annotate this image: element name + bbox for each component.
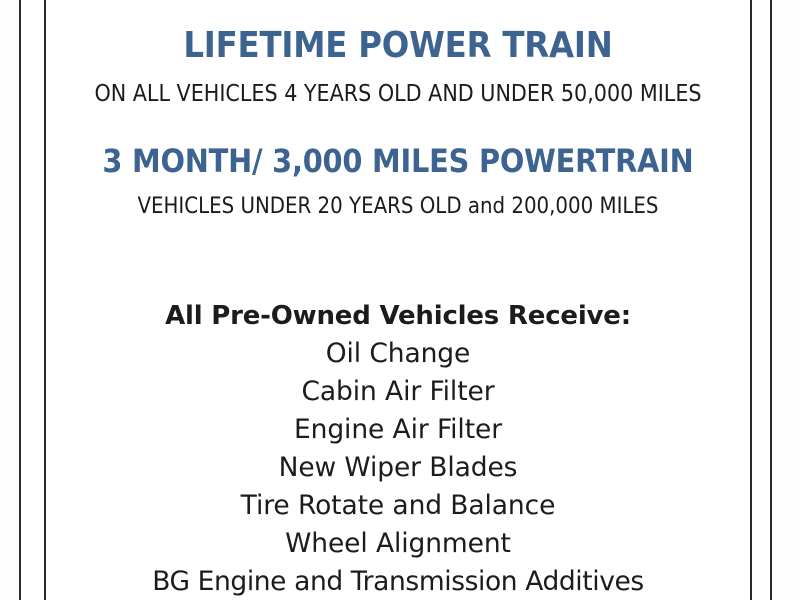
service-item: Tire Rotate and Balance	[46, 487, 750, 525]
warranty-subline-3month-powertrain: VEHICLES UNDER 20 YEARS OLD and 200,000 …	[46, 193, 750, 219]
warranty-subline-text: VEHICLES UNDER 20 YEARS OLD and 200,000 …	[138, 194, 659, 219]
warranty-flyer: LIFETIME POWER TRAIN ON ALL VEHICLES 4 Y…	[0, 0, 800, 600]
services-list-heading: All Pre-Owned Vehicles Receive:	[46, 297, 750, 335]
service-item: New Wiper Blades	[46, 449, 750, 487]
service-item: Wheel Alignment	[46, 525, 750, 563]
service-item: Engine Air Filter	[46, 411, 750, 449]
service-item: Cabin Air Filter	[46, 373, 750, 411]
warranty-subline-text: ON ALL VEHICLES 4 YEARS OLD AND UNDER 50…	[94, 81, 701, 107]
warranty-subline-lifetime-powertrain: ON ALL VEHICLES 4 YEARS OLD AND UNDER 50…	[46, 80, 750, 107]
border-rule-inner-right	[750, 0, 752, 600]
warranty-headline-lifetime-powertrain: LIFETIME POWER TRAIN	[46, 25, 750, 66]
flyer-content: LIFETIME POWER TRAIN ON ALL VEHICLES 4 Y…	[46, 0, 750, 600]
border-rule-outer-right	[770, 0, 772, 600]
warranty-headline-text: 3 MONTH/ 3,000 MILES POWERTRAIN	[102, 142, 693, 180]
warranty-headline-3month-powertrain: 3 MONTH/ 3,000 MILES POWERTRAIN	[46, 143, 750, 179]
page-gutter-right	[771, 0, 800, 600]
services-list: All Pre-Owned Vehicles Receive: Oil Chan…	[46, 297, 750, 600]
page-gutter-left	[0, 0, 19, 600]
service-item: BG Engine and Transmission Additives	[46, 563, 750, 600]
border-rule-outer-left	[19, 0, 21, 600]
warranty-headline-text: LIFETIME POWER TRAIN	[183, 25, 612, 66]
service-item: Oil Change	[46, 335, 750, 373]
